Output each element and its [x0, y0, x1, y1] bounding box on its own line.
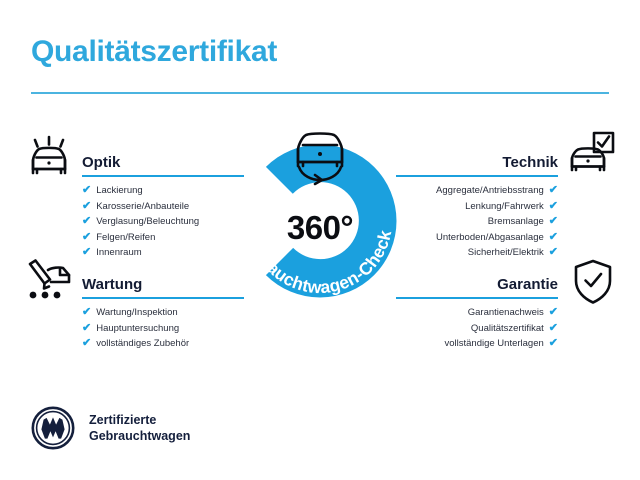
- check-icon: ✔: [549, 245, 558, 261]
- check-icon: ✔: [82, 245, 91, 261]
- list-item-label: Felgen/Reifen: [96, 230, 155, 246]
- list-item: vollständige Unterlagen✔: [396, 336, 558, 352]
- car-checkbox-icon: [568, 131, 615, 182]
- volkswagen-logo: [31, 406, 75, 450]
- check-icon: ✔: [549, 214, 558, 230]
- check-icon: ✔: [549, 305, 558, 321]
- section-wartung-title: Wartung: [82, 276, 142, 293]
- section-garantie-divider: [396, 297, 558, 299]
- section-technik-divider: [396, 175, 558, 177]
- list-item: ✔vollständiges Zubehör: [82, 336, 244, 352]
- list-item: Unterboden/Abgasanlage✔: [396, 230, 558, 246]
- list-item-label: Wartung/Inspektion: [96, 305, 178, 321]
- footer-line-2: Gebrauchtwagen: [89, 428, 190, 444]
- list-item-label: Sicherheit/Elektrik: [468, 245, 544, 261]
- section-garantie: Garantie Garantienachweis✔ Qualitätszert…: [396, 268, 558, 368]
- list-item: ✔Hauptuntersuchung: [82, 321, 244, 337]
- list-item: Bremsanlage✔: [396, 214, 558, 230]
- list-item: ✔Karosserie/Anbauteile: [82, 199, 244, 215]
- list-item: Aggregate/Antriebsstrang✔: [396, 183, 558, 199]
- footer-branding: Zertifizierte Gebrauchtwagen: [31, 406, 190, 450]
- check-icon: ✔: [82, 214, 91, 230]
- check-icon: ✔: [82, 230, 91, 246]
- list-item-label: Karosserie/Anbauteile: [96, 199, 189, 215]
- list-item-label: Bremsanlage: [488, 214, 544, 230]
- section-wartung-header: Wartung: [82, 268, 244, 294]
- page-title: Qualitätszertifikat: [31, 35, 277, 69]
- list-item: Qualitätszertifikat✔: [396, 321, 558, 337]
- list-item-label: Verglasung/Beleuchtung: [96, 214, 199, 230]
- list-item-label: Lackierung: [96, 183, 142, 199]
- section-garantie-title: Garantie: [497, 276, 558, 293]
- section-optik-header: Optik: [82, 146, 244, 172]
- section-garantie-list: Garantienachweis✔ Qualitätszertifikat✔ v…: [396, 305, 558, 352]
- list-item-label: vollständige Unterlagen: [444, 336, 543, 352]
- list-item-label: Qualitätszertifikat: [471, 321, 544, 337]
- check-icon: ✔: [549, 183, 558, 199]
- title-divider: [31, 92, 609, 94]
- section-wartung-list: ✔Wartung/Inspektion ✔Hauptuntersuchung ✔…: [82, 305, 244, 352]
- section-technik-header: Technik: [396, 146, 558, 172]
- section-optik-list: ✔Lackierung ✔Karosserie/Anbauteile ✔Verg…: [82, 183, 244, 261]
- section-technik-title: Technik: [502, 154, 558, 171]
- list-item-label: Lenkung/Fahrwerk: [465, 199, 544, 215]
- list-item: Garantienachweis✔: [396, 305, 558, 321]
- list-item-label: vollständiges Zubehör: [96, 336, 189, 352]
- section-technik: Technik Aggregate/Antriebsstrang✔ Lenkun…: [396, 146, 558, 277]
- section-wartung: Wartung ✔Wartung/Inspektion ✔Hauptunters…: [82, 268, 244, 368]
- footer-line-1: Zertifizierte: [89, 412, 190, 428]
- check-icon: ✔: [549, 321, 558, 337]
- check-icon: ✔: [549, 230, 558, 246]
- shield-check-icon: [573, 259, 613, 310]
- section-optik: Optik ✔Lackierung ✔Karosserie/Anbauteile…: [82, 146, 244, 277]
- list-item-label: Garantienachweis: [468, 305, 544, 321]
- list-item-label: Aggregate/Antriebsstrang: [436, 183, 544, 199]
- list-item: ✔Felgen/Reifen: [82, 230, 244, 246]
- section-technik-list: Aggregate/Antriebsstrang✔ Lenkung/Fahrwe…: [396, 183, 558, 261]
- section-wartung-divider: [82, 297, 244, 299]
- sparkling-car-icon: [24, 133, 74, 184]
- check-icon: ✔: [82, 305, 91, 321]
- check-icon: ✔: [549, 336, 558, 352]
- list-item: ✔Wartung/Inspektion: [82, 305, 244, 321]
- list-item: Lenkung/Fahrwerk✔: [396, 199, 558, 215]
- footer-text: Zertifizierte Gebrauchtwagen: [89, 412, 190, 444]
- section-optik-title: Optik: [82, 154, 120, 171]
- list-item-label: Innenraum: [96, 245, 141, 261]
- check-icon: ✔: [82, 183, 91, 199]
- list-item: ✔Innenraum: [82, 245, 244, 261]
- check-icon: ✔: [82, 199, 91, 215]
- rotating-car-icon: [282, 123, 358, 194]
- check-icon: ✔: [82, 336, 91, 352]
- check-icon: ✔: [82, 321, 91, 337]
- section-optik-divider: [82, 175, 244, 177]
- list-item: ✔Lackierung: [82, 183, 244, 199]
- service-pen-car-icon: [24, 258, 74, 307]
- section-garantie-header: Garantie: [396, 268, 558, 294]
- list-item-label: Hauptuntersuchung: [96, 321, 179, 337]
- list-item: ✔Verglasung/Beleuchtung: [82, 214, 244, 230]
- list-item-label: Unterboden/Abgasanlage: [436, 230, 544, 246]
- check-icon: ✔: [549, 199, 558, 215]
- list-item: Sicherheit/Elektrik✔: [396, 245, 558, 261]
- certificate-page: Qualitätszertifikat: [0, 0, 640, 480]
